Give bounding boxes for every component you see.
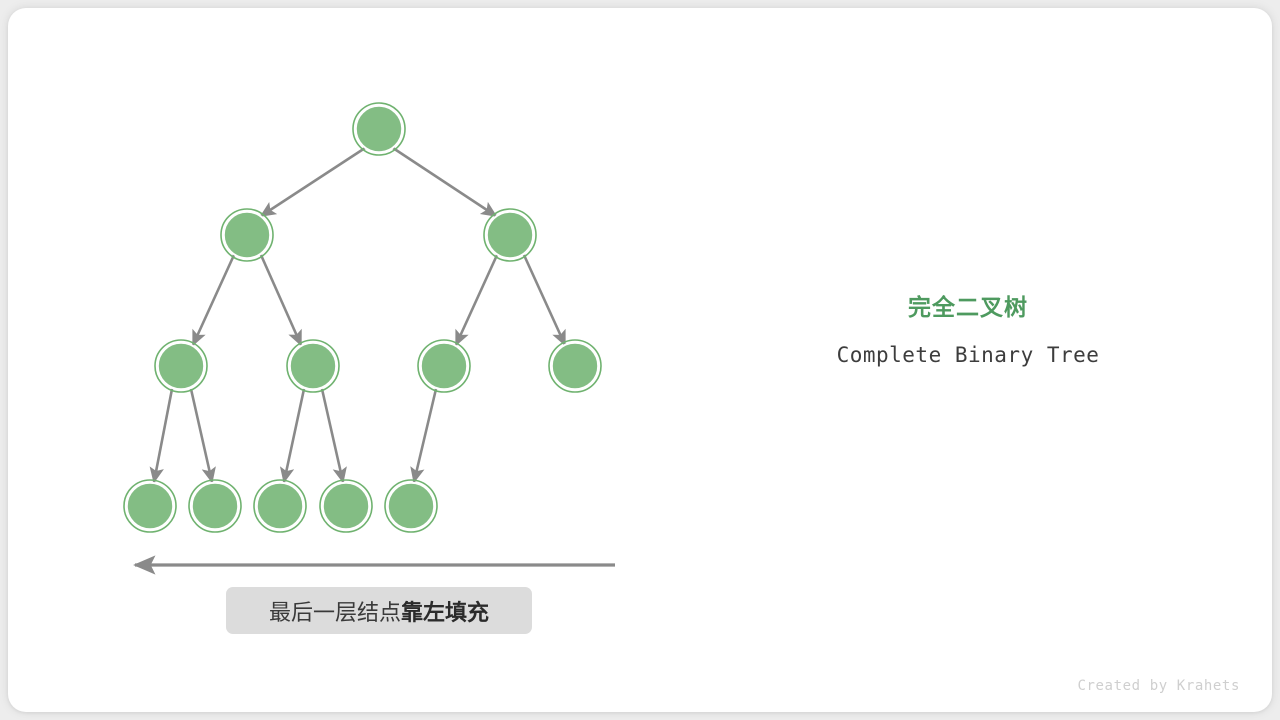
- caption-block: 完全二叉树 Complete Binary Tree: [760, 292, 1176, 368]
- fill-direction-label: 最后一层结点靠左填充: [226, 587, 532, 634]
- tree-edge: [414, 389, 436, 482]
- tree-node[interactable]: [353, 103, 405, 155]
- tree-node[interactable]: [254, 480, 306, 532]
- tree-node[interactable]: [320, 480, 372, 532]
- tree-node[interactable]: [287, 340, 339, 392]
- tree-edge: [524, 255, 565, 345]
- tree-node[interactable]: [549, 340, 601, 392]
- tree-node[interactable]: [155, 340, 207, 392]
- tree-edge: [322, 389, 343, 482]
- tree-edge: [261, 255, 301, 345]
- caption-subtitle: Complete Binary Tree: [760, 342, 1176, 368]
- tree-edges: [154, 148, 565, 482]
- tree-edge: [193, 255, 234, 345]
- watermark: Created by Krahets: [1077, 678, 1240, 694]
- tree-edge: [456, 255, 497, 345]
- tree-nodes: [124, 103, 601, 532]
- tree-edge: [284, 389, 304, 482]
- tree-node[interactable]: [189, 480, 241, 532]
- tree-node[interactable]: [484, 209, 536, 261]
- tree-node[interactable]: [221, 209, 273, 261]
- fill-direction-label-text: 最后一层结点靠左填充: [269, 595, 489, 627]
- tree-node[interactable]: [385, 480, 437, 532]
- tree-edge: [191, 389, 212, 482]
- tree-node[interactable]: [418, 340, 470, 392]
- diagram-canvas: 完全二叉树 Complete Binary Tree 最后一层结点靠左填充 Cr…: [0, 0, 1280, 720]
- fill-direction-label-bold: 靠左填充: [401, 600, 489, 625]
- tree-node[interactable]: [124, 480, 176, 532]
- tree-edge: [261, 148, 365, 216]
- tree-edge: [154, 389, 172, 482]
- fill-direction-label-normal: 最后一层结点: [269, 600, 401, 625]
- caption-title: 完全二叉树: [760, 292, 1176, 322]
- tree-edge: [393, 148, 496, 216]
